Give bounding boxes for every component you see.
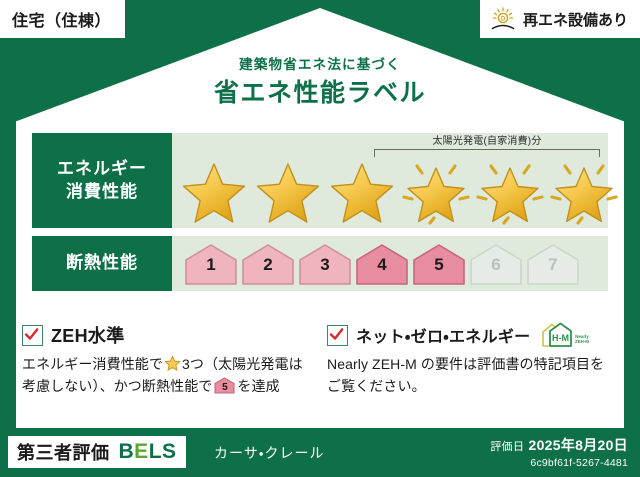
energy-label-line2: 消費性能 xyxy=(66,181,138,204)
bels-letter-ls: LS xyxy=(149,440,177,463)
energy-performance-label: エネルギー 消費性能 xyxy=(32,133,172,228)
energy-label-board: 住宅（住棟） D 再エネ設備あり 建築物省エネ法に基づ xyxy=(0,0,640,477)
svg-text:H-M: H-M xyxy=(552,333,569,343)
evaluation-id: 6c9bf61f-5267-4481 xyxy=(490,457,628,469)
insulation-grade-4: 4 xyxy=(355,242,409,286)
star-rating-strip xyxy=(178,152,602,226)
renewable-equipment-chip: D 再エネ設備あり xyxy=(480,0,640,38)
insulation-grade-1-number: 1 xyxy=(184,255,238,275)
zeh-m-logo-icon: H-M Nearly ZEH-M xyxy=(539,321,593,349)
title-main: 省エネ性能ラベル xyxy=(0,76,640,111)
insulation-grade-3-number: 3 xyxy=(298,255,352,275)
star-solar xyxy=(400,152,472,226)
solar-bracket-label: 太陽光発電(自家消費)分 xyxy=(374,136,600,148)
bels-wordmark: BELS xyxy=(119,440,177,464)
label-title-block: 建築物省エネ法に基づく 省エネ性能ラベル xyxy=(0,56,640,111)
evaluation-date-value: 2025年8月20日 xyxy=(528,437,628,453)
insulation-grade-7: 7 xyxy=(526,242,580,286)
inline-house-icon: 5 xyxy=(214,377,235,394)
star-filled xyxy=(326,152,398,226)
zeh-body-part3: を達成 xyxy=(237,378,279,394)
star-filled xyxy=(252,152,324,226)
inline-house-number: 5 xyxy=(214,380,235,396)
insulation-grade-6-number: 6 xyxy=(469,255,523,275)
title-subtitle: 建築物省エネ法に基づく xyxy=(0,56,640,74)
star-filled xyxy=(178,152,250,226)
insulation-grade-5-number: 5 xyxy=(412,255,466,275)
label-footer: 第三者評価 BELS カーサ・クレール 評価日 2025年8月20日 6c9bf… xyxy=(0,430,640,477)
inline-star-icon xyxy=(164,355,181,372)
insulation-grade-1: 1 xyxy=(184,242,238,286)
bels-letter-e: E xyxy=(134,440,149,463)
insulation-grade-5: 5 xyxy=(412,242,466,286)
star-solar xyxy=(474,152,546,226)
zeh-checkbox[interactable] xyxy=(22,325,43,346)
insulation-label-text: 断熱性能 xyxy=(66,252,138,275)
evaluation-date-prefix: 評価日 xyxy=(490,441,524,453)
star-solar xyxy=(548,152,620,226)
zeh-criteria-title: ZEH水準 xyxy=(51,322,125,348)
nze-checkbox[interactable] xyxy=(327,325,348,346)
bels-chip: 第三者評価 BELS xyxy=(8,436,186,468)
insulation-grade-2: 2 xyxy=(241,242,295,286)
energy-performance-row: エネルギー 消費性能 太陽光発電(自家消費)分 xyxy=(32,133,608,228)
zeh-criteria-body: エネルギー消費性能で3つ（太陽光発電は考慮しない）、かつ断熱性能で5を達成 xyxy=(22,354,313,397)
insulation-grade-3: 3 xyxy=(298,242,352,286)
evaluation-info: 評価日 2025年8月20日 6c9bf61f-5267-4481 xyxy=(490,435,628,469)
third-party-eval-label: 第三者評価 xyxy=(17,439,110,465)
nze-criteria-header: ネット・ゼロ・エネルギー H-M Nearly ZEH-M xyxy=(327,322,618,348)
svg-text:ZEH-M: ZEH-M xyxy=(576,339,590,344)
zeh-criteria-column: ZEH水準 エネルギー消費性能で3つ（太陽光発電は考慮しない）、かつ断熱性能で5… xyxy=(22,322,313,397)
performance-rows: エネルギー 消費性能 太陽光発電(自家消費)分 xyxy=(32,133,608,299)
insulation-grade-4-number: 4 xyxy=(355,255,409,275)
insulation-grade-scale: 1 2 3 xyxy=(184,242,580,286)
building-type-chip: 住宅（住棟） xyxy=(0,0,125,38)
insulation-performance-row: 断熱性能 1 2 xyxy=(32,236,608,291)
insulation-performance-body: 1 2 3 xyxy=(172,236,608,291)
criteria-section: ZEH水準 エネルギー消費性能で3つ（太陽光発電は考慮しない）、かつ断熱性能で5… xyxy=(22,322,618,397)
sun-icon: D xyxy=(490,7,516,31)
zeh-body-star-count: 3つ（太陽光発電 xyxy=(182,356,289,372)
insulation-performance-label: 断熱性能 xyxy=(32,236,172,291)
svg-text:D: D xyxy=(501,17,506,23)
renewable-equipment-label: 再エネ設備あり xyxy=(523,9,628,30)
nze-criteria-body: Nearly ZEH-M の要件は評価書の特記項目をご覧ください。 xyxy=(327,354,618,397)
energy-label-line1: エネルギー xyxy=(57,158,147,181)
energy-performance-body: 太陽光発電(自家消費)分 xyxy=(172,133,608,228)
bels-letter-b: B xyxy=(119,440,135,463)
evaluation-date-line: 評価日 2025年8月20日 xyxy=(490,435,628,455)
insulation-grade-2-number: 2 xyxy=(241,255,295,275)
nze-criteria-column: ネット・ゼロ・エネルギー H-M Nearly ZEH-M Nearly ZEH… xyxy=(327,322,618,397)
property-name: カーサ・クレール xyxy=(214,443,324,463)
zeh-body-part1: エネルギー消費性能で xyxy=(22,356,163,372)
insulation-grade-7-number: 7 xyxy=(526,255,580,275)
building-type-label: 住宅（住棟） xyxy=(12,7,111,31)
nze-criteria-title: ネット・ゼロ・エネルギー xyxy=(356,323,530,347)
insulation-grade-6: 6 xyxy=(469,242,523,286)
zeh-criteria-header: ZEH水準 xyxy=(22,322,313,348)
